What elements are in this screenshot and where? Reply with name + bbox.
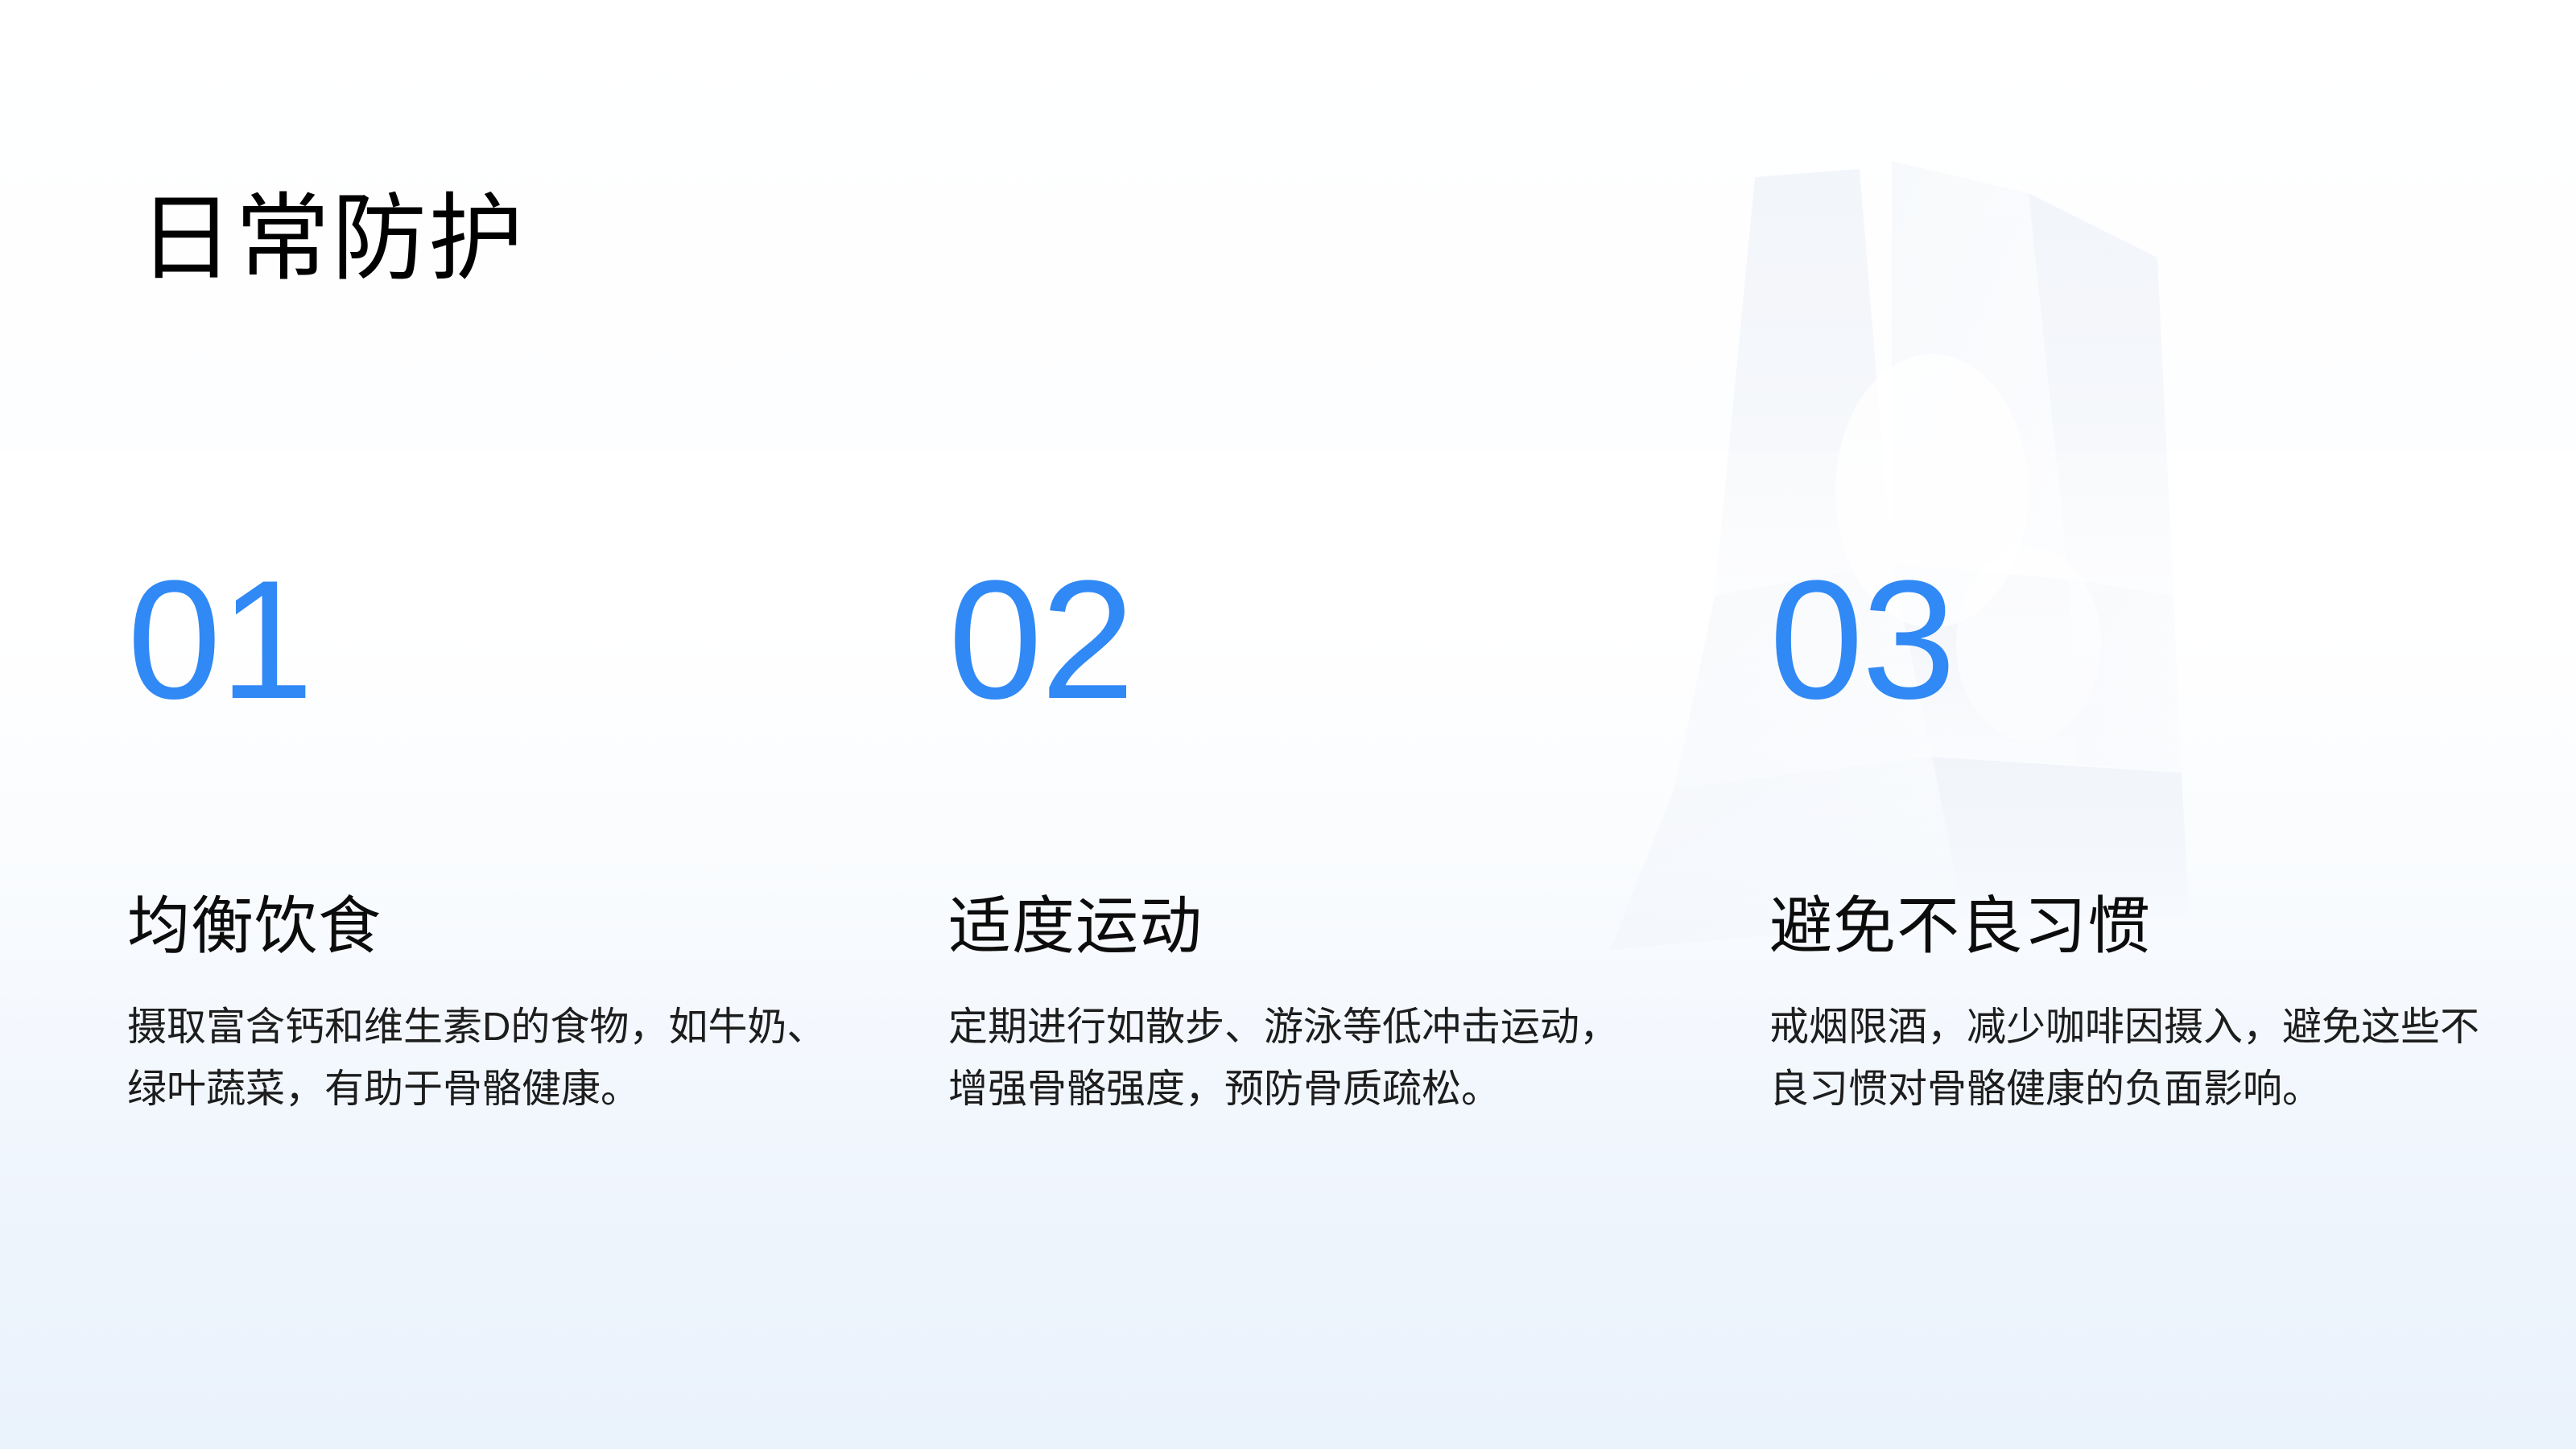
column-heading-3: 避免不良习惯 <box>1769 892 2494 961</box>
content-column-3: 03 避免不良习惯 戒烟限酒，减少咖啡因摄入，避免这些不良习惯对骨骼健康的负面影… <box>1769 555 2494 1121</box>
column-heading-1: 均衡饮食 <box>127 892 852 961</box>
column-body-3: 戒烟限酒，减少咖啡因摄入，避免这些不良习惯对骨骼健康的负面影响。 <box>1769 997 2498 1121</box>
column-number-01: 01 <box>127 555 852 797</box>
content-columns: 01 均衡饮食 摄取富含钙和维生素D的食物，如牛奶、绿叶蔬菜，有助于骨骼健康。 … <box>0 0 2576 1449</box>
column-number-03: 03 <box>1769 555 2494 797</box>
column-body-2: 定期进行如散步、游泳等低冲击运动，增强骨骼强度，预防骨质疏松。 <box>948 997 1657 1121</box>
column-number-02: 02 <box>948 555 1673 797</box>
slide-root: 日常防护 01 均衡饮食 摄取富含钙和维生素D的食物，如牛奶、绿叶蔬菜，有助于骨… <box>0 0 2576 1449</box>
content-column-2: 02 适度运动 定期进行如散步、游泳等低冲击运动，增强骨骼强度，预防骨质疏松。 <box>948 555 1673 1121</box>
column-body-1: 摄取富含钙和维生素D的食物，如牛奶、绿叶蔬菜，有助于骨骼健康。 <box>127 997 836 1121</box>
content-column-1: 01 均衡饮食 摄取富含钙和维生素D的食物，如牛奶、绿叶蔬菜，有助于骨骼健康。 <box>127 555 852 1121</box>
column-heading-2: 适度运动 <box>948 892 1673 961</box>
